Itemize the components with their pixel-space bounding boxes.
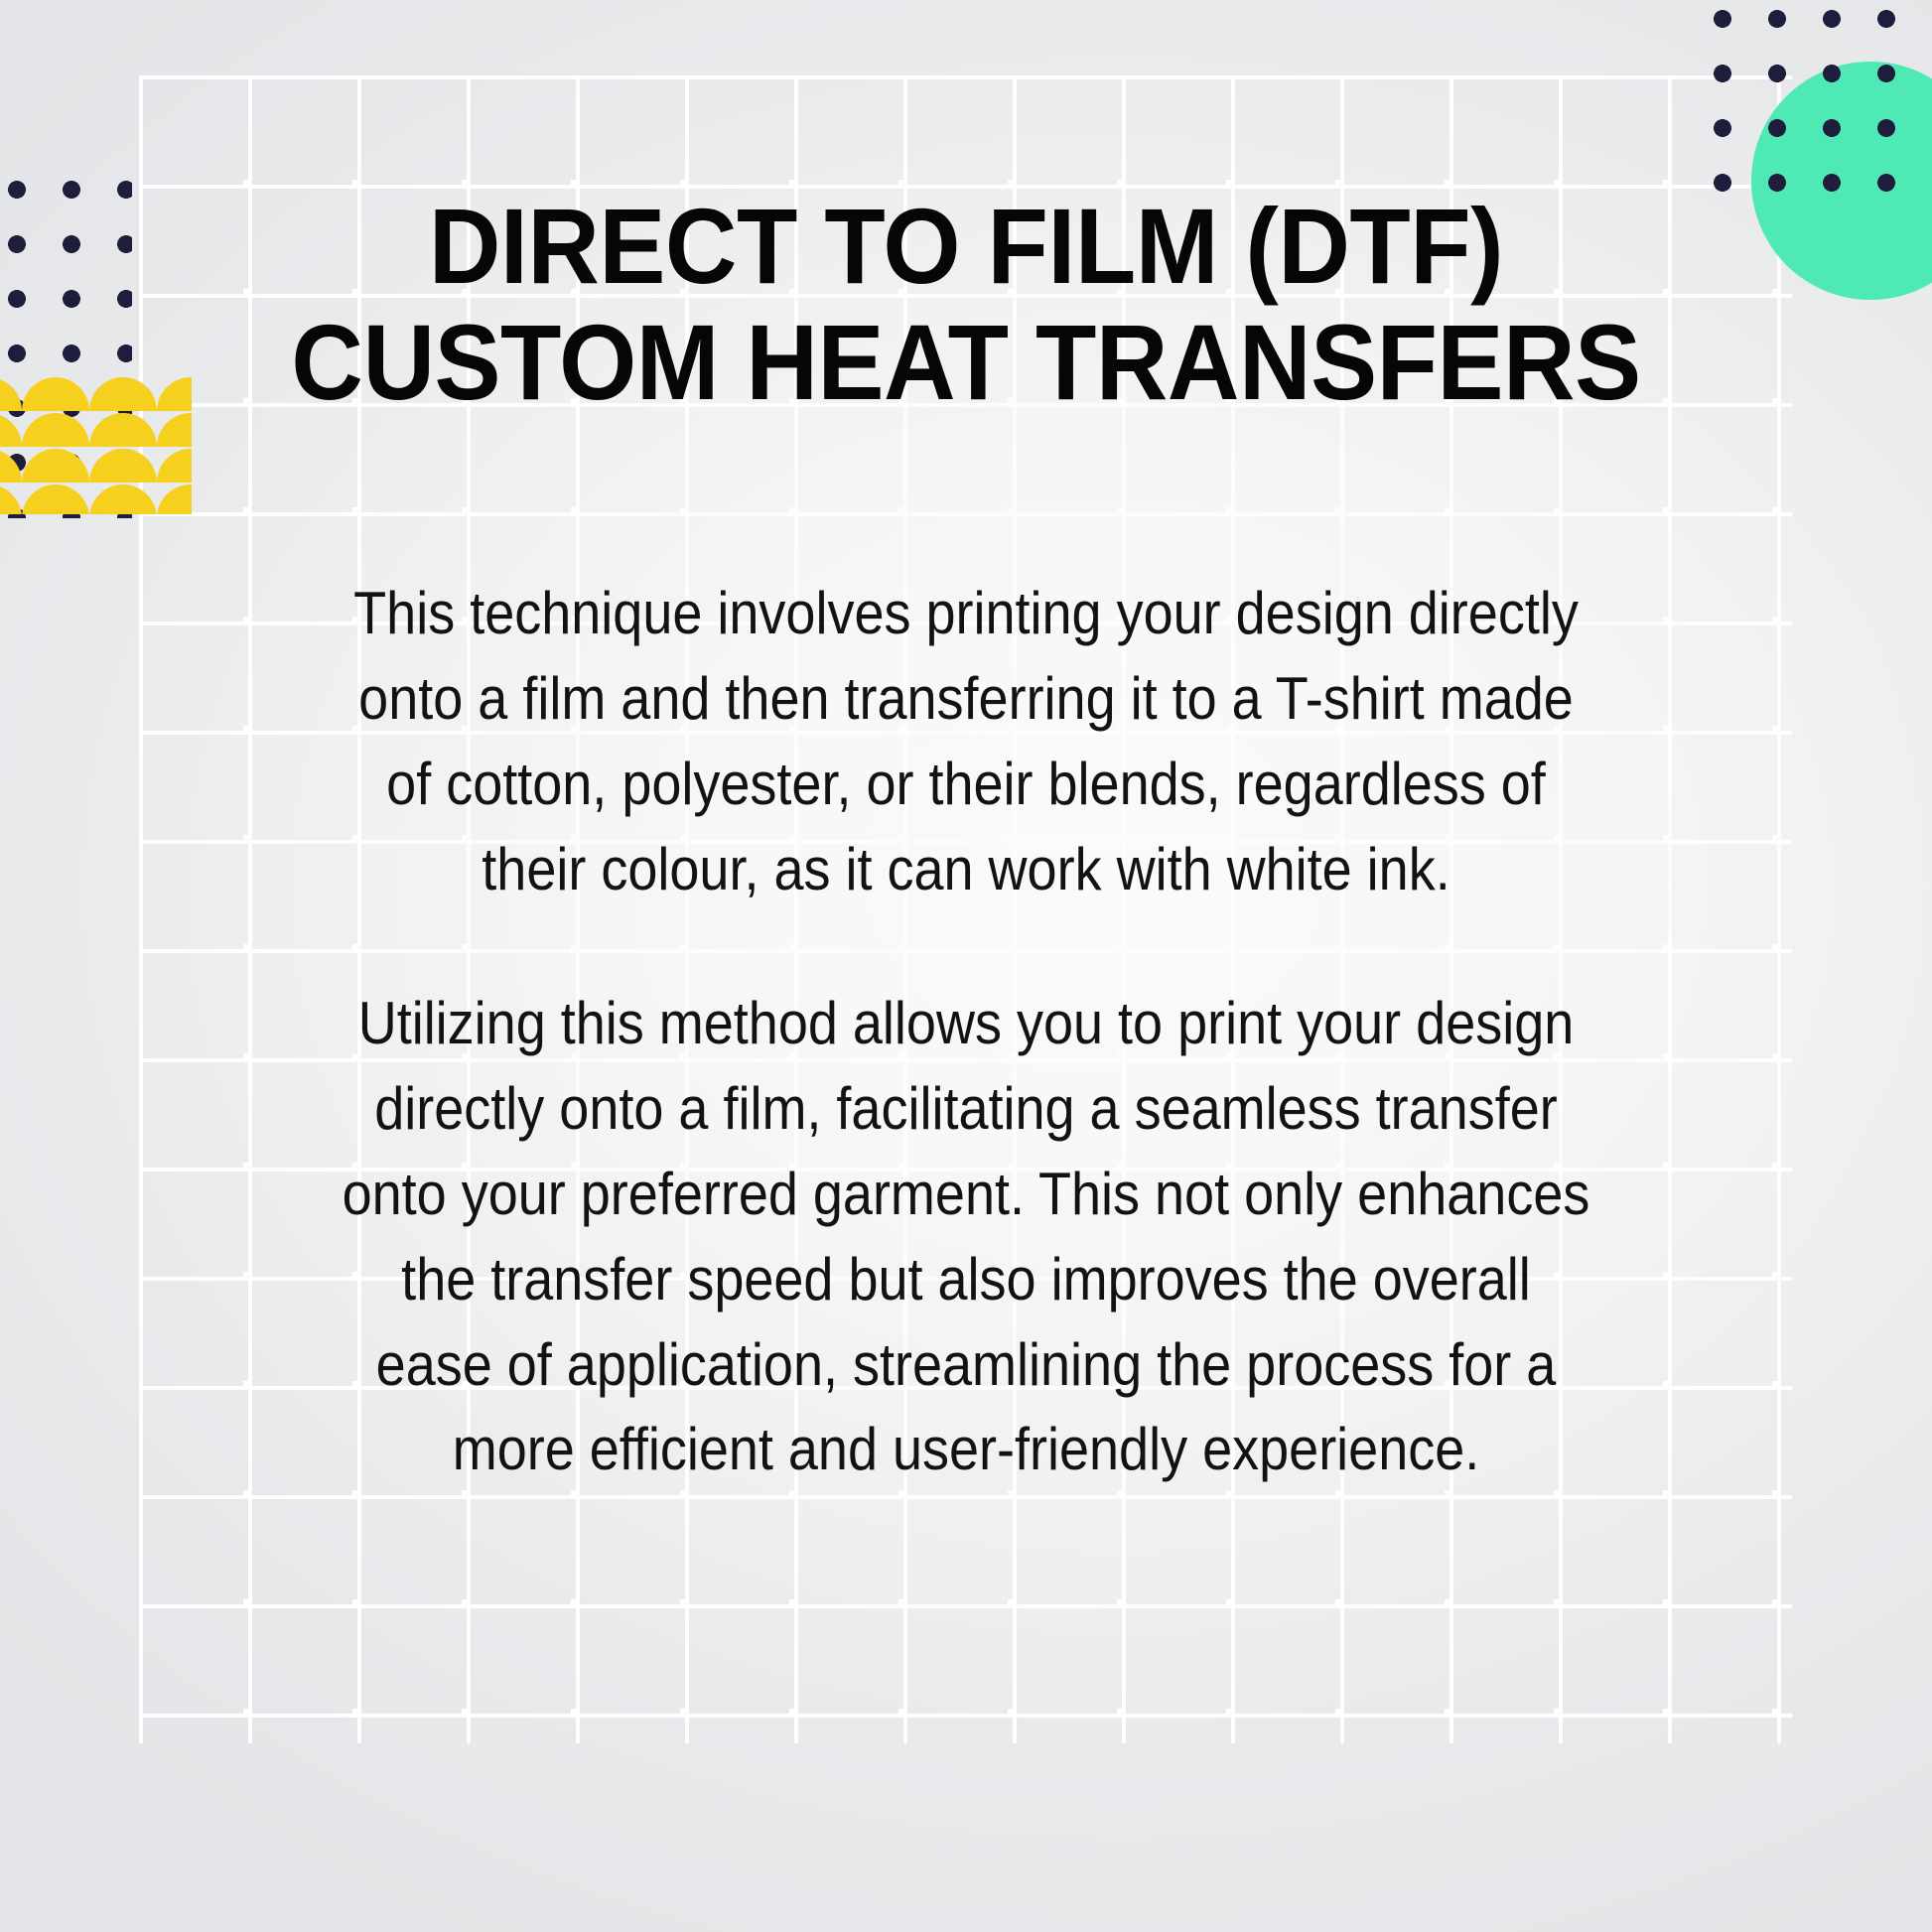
paragraph-2: Utilizing this method allows you to prin…: [341, 981, 1591, 1492]
page-title-line-2: CUSTOM HEAT TRANSFERS: [255, 305, 1677, 421]
paragraph-1: This technique involves printing your de…: [341, 571, 1591, 911]
poster-content: DIRECT TO FILM (DTF) CUSTOM HEAT TRANSFE…: [0, 0, 1932, 1932]
page-title-line-1: DIRECT TO FILM (DTF): [255, 189, 1677, 305]
page-title: DIRECT TO FILM (DTF) CUSTOM HEAT TRANSFE…: [255, 189, 1677, 420]
body-copy: This technique involves printing your de…: [271, 571, 1661, 1492]
poster-canvas: DIRECT TO FILM (DTF) CUSTOM HEAT TRANSFE…: [0, 0, 1932, 1932]
